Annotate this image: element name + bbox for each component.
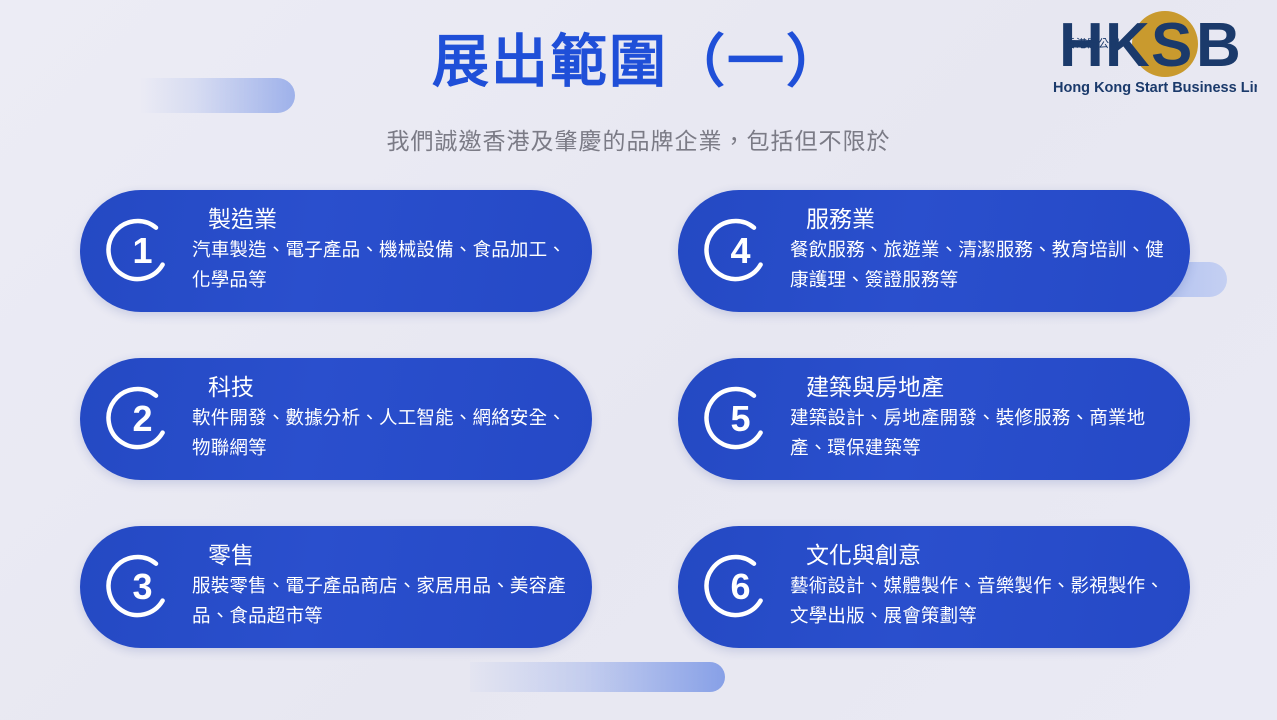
industry-card-1-text: 製造業 汽車製造、電子產品、機械設備、食品加工、化學品等 bbox=[188, 206, 592, 297]
logo-letter-s: S bbox=[1151, 11, 1192, 80]
number-badge-1: 1 bbox=[104, 214, 178, 288]
number-badge-1-value: 1 bbox=[104, 214, 178, 288]
industry-card-2-title: 科技 bbox=[192, 374, 574, 403]
number-badge-6: 6 bbox=[702, 550, 776, 624]
slide-subtitle: 我們誠邀香港及肇慶的品牌企業，包括但不限於 bbox=[0, 122, 1277, 156]
number-badge-4-value: 4 bbox=[702, 214, 776, 288]
industry-card-2-text: 科技 軟件開發、數據分析、人工智能、網絡安全、物聯網等 bbox=[188, 374, 592, 465]
company-logo: H K B S 香港開公司 Hong Kong Start Business L… bbox=[1047, 4, 1257, 99]
industry-card-1-description: 汽車製造、電子產品、機械設備、食品加工、化學品等 bbox=[192, 236, 574, 296]
number-badge-3: 3 bbox=[104, 550, 178, 624]
industry-card-1-title: 製造業 bbox=[192, 206, 574, 235]
industry-card-1[interactable]: 1 製造業 汽車製造、電子產品、機械設備、食品加工、化學品等 bbox=[80, 190, 592, 312]
industry-card-grid: 1 製造業 汽車製造、電子產品、機械設備、食品加工、化學品等 2 科技 軟件開發… bbox=[0, 188, 1277, 658]
decorative-pill-bottom bbox=[470, 662, 725, 692]
industry-card-5[interactable]: 5 建築與房地產 建築設計、房地產開發、裝修服務、商業地產、環保建築等 bbox=[678, 358, 1190, 480]
industry-card-4-text: 服務業 餐飲服務、旅遊業、清潔服務、教育培訓、健康護理、簽證服務等 bbox=[786, 206, 1190, 297]
industry-card-3-title: 零售 bbox=[192, 542, 574, 571]
number-badge-3-value: 3 bbox=[104, 550, 178, 624]
number-badge-4: 4 bbox=[702, 214, 776, 288]
slide-canvas: 展出範圍（一） 我們誠邀香港及肇慶的品牌企業，包括但不限於 H K B S 香港… bbox=[0, 0, 1277, 720]
number-badge-2-value: 2 bbox=[104, 382, 178, 456]
logo-full-name: Hong Kong Start Business Limited bbox=[1053, 80, 1257, 96]
number-badge-6-value: 6 bbox=[702, 550, 776, 624]
industry-card-3-description: 服裝零售、電子產品商店、家居用品、美容產品、食品超市等 bbox=[192, 572, 574, 632]
industry-card-4-description: 餐飲服務、旅遊業、清潔服務、教育培訓、健康護理、簽證服務等 bbox=[790, 236, 1172, 296]
industry-card-2[interactable]: 2 科技 軟件開發、數據分析、人工智能、網絡安全、物聯網等 bbox=[80, 358, 592, 480]
industry-card-2-description: 軟件開發、數據分析、人工智能、網絡安全、物聯網等 bbox=[192, 404, 574, 464]
industry-card-4-title: 服務業 bbox=[790, 206, 1172, 235]
industry-card-4[interactable]: 4 服務業 餐飲服務、旅遊業、清潔服務、教育培訓、健康護理、簽證服務等 bbox=[678, 190, 1190, 312]
number-badge-5: 5 bbox=[702, 382, 776, 456]
industry-card-5-description: 建築設計、房地產開發、裝修服務、商業地產、環保建築等 bbox=[790, 404, 1172, 464]
industry-card-6-title: 文化與創意 bbox=[790, 542, 1172, 571]
number-badge-5-value: 5 bbox=[702, 382, 776, 456]
industry-card-5-text: 建築與房地產 建築設計、房地產開發、裝修服務、商業地產、環保建築等 bbox=[786, 374, 1190, 465]
number-badge-2: 2 bbox=[104, 382, 178, 456]
industry-card-5-title: 建築與房地產 bbox=[790, 374, 1172, 403]
industry-card-3[interactable]: 3 零售 服裝零售、電子產品商店、家居用品、美容產品、食品超市等 bbox=[80, 526, 592, 648]
industry-card-3-text: 零售 服裝零售、電子產品商店、家居用品、美容產品、食品超市等 bbox=[188, 542, 592, 633]
logo-letter-b: B bbox=[1196, 11, 1241, 80]
industry-card-6-text: 文化與創意 藝術設計、媒體製作、音樂製作、影視製作、文學出版、展會策劃等 bbox=[786, 542, 1190, 633]
logo-chinese-tag: 香港開公司 bbox=[1065, 37, 1120, 50]
industry-card-6[interactable]: 6 文化與創意 藝術設計、媒體製作、音樂製作、影視製作、文學出版、展會策劃等 bbox=[678, 526, 1190, 648]
industry-card-6-description: 藝術設計、媒體製作、音樂製作、影視製作、文學出版、展會策劃等 bbox=[790, 572, 1172, 632]
